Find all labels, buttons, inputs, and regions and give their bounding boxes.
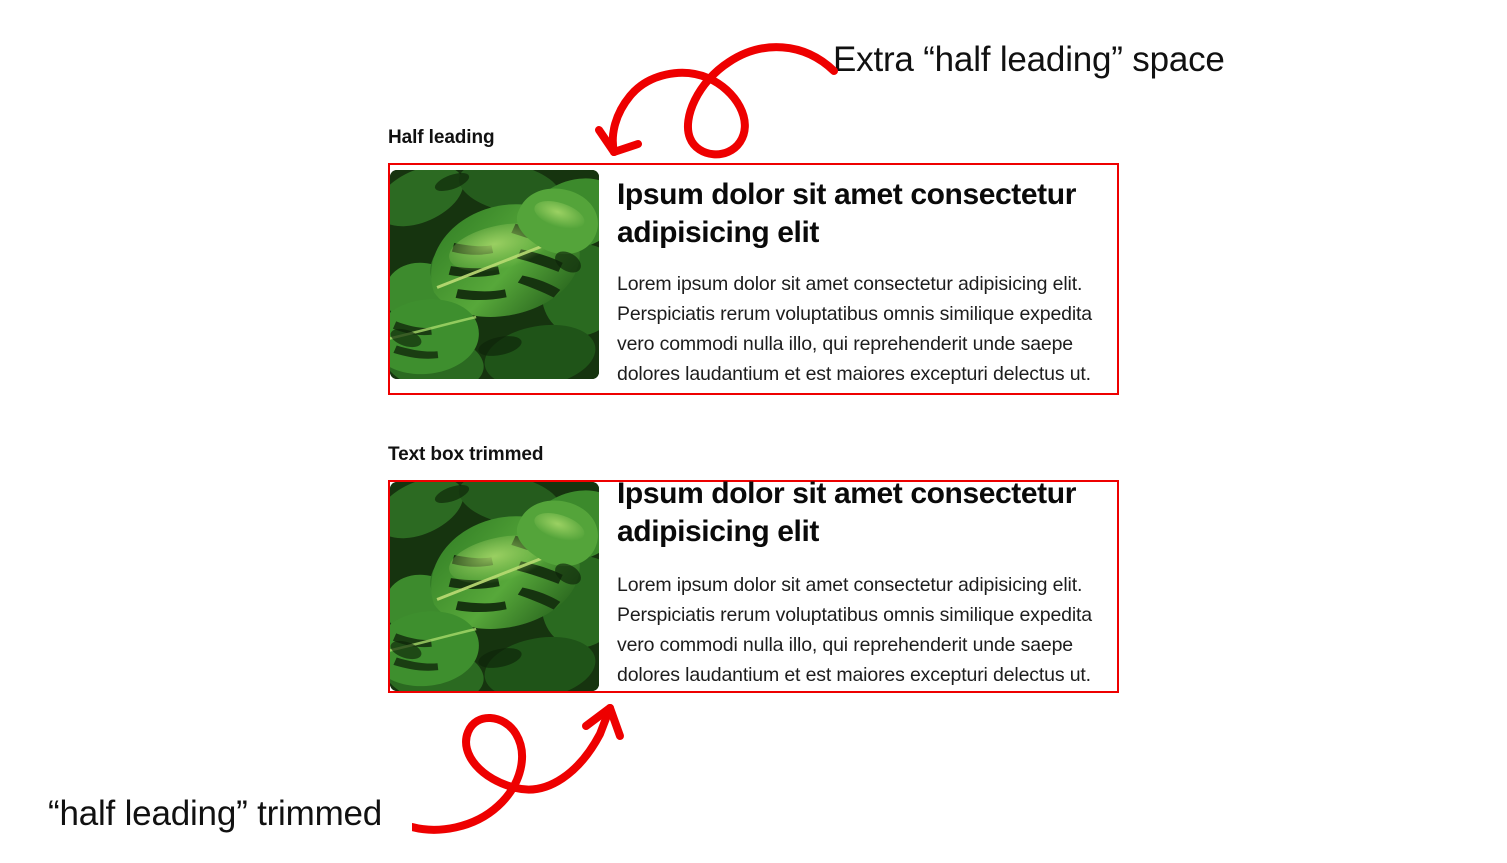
monstera-leaves-photo — [390, 482, 599, 691]
card-body-text-box-trimmed: Ipsum dolor sit amet consectetur adipisi… — [599, 482, 1117, 690]
annotation-label-top: Extra “half leading” space — [833, 41, 1225, 80]
card-heading-half-leading: Ipsum dolor sit amet consectetur adipisi… — [617, 176, 1105, 252]
card-heading-text-box-trimmed: Ipsum dolor sit amet consectetur adipisi… — [617, 475, 1105, 551]
example-label-half-leading: Half leading — [388, 127, 1119, 149]
card-paragraph-half-leading: Lorem ipsum dolor sit amet consectetur a… — [617, 269, 1105, 389]
curly-arrow-up-right-icon — [412, 684, 662, 834]
card-image-text-box-trimmed — [390, 482, 599, 691]
monstera-leaves-photo — [390, 170, 599, 379]
card-image-half-leading — [390, 170, 599, 379]
card-body-half-leading: Ipsum dolor sit amet consectetur adipisi… — [599, 170, 1117, 389]
example-half-leading: Half leading — [388, 127, 1119, 395]
example-label-text-box-trimmed: Text box trimmed — [388, 444, 1119, 466]
card-paragraph-text-box-trimmed: Lorem ipsum dolor sit amet consectetur a… — [617, 570, 1105, 690]
card-half-leading: Ipsum dolor sit amet consectetur adipisi… — [388, 163, 1119, 395]
annotation-label-bottom: “half leading” trimmed — [48, 795, 382, 834]
card-text-box-trimmed: Ipsum dolor sit amet consectetur adipisi… — [388, 480, 1119, 693]
example-text-box-trimmed: Text box trimmed — [388, 444, 1119, 693]
